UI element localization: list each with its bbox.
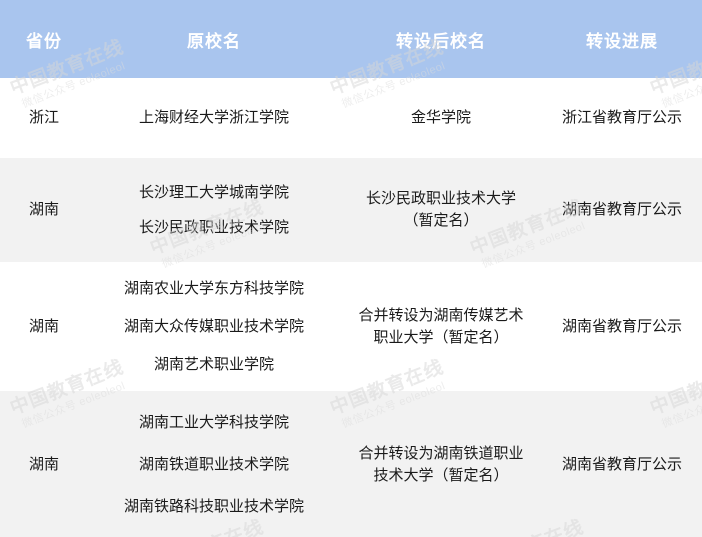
new-name-line: 技术大学（暂定名） (344, 465, 538, 487)
school-name-line: 长沙理工大学城南学院 (92, 182, 336, 204)
header-row: 省份 原校名 转设后校名 转设进展 (0, 0, 702, 78)
new-name-line: 职业大学（暂定名） (344, 327, 538, 349)
school-name-line: 湖南艺术职业学院 (92, 354, 336, 376)
column-header-province: 省份 (0, 0, 88, 78)
school-name-line: 湖南铁路科技职业技术学院 (92, 496, 336, 518)
column-header-original-school-name: 原校名 (88, 0, 340, 78)
cell-transition-progress: 湖南省教育厅公示 (542, 262, 702, 391)
cell-new-school-name: 合并转设为湖南传媒艺术 职业大学（暂定名） (340, 262, 542, 391)
cell-original-school-name: 上海财经大学浙江学院 (88, 78, 340, 158)
cell-transition-progress: 湖南省教育厅公示 (542, 391, 702, 537)
new-name-line: 长沙民政职业技术大学 (344, 188, 538, 210)
cell-province: 湖南 (0, 262, 88, 391)
cell-original-school-name: 长沙理工大学城南学院 长沙民政职业技术学院 (88, 158, 340, 262)
cell-province: 湖南 (0, 158, 88, 262)
cell-new-school-name: 长沙民政职业技术大学 （暂定名） (340, 158, 542, 262)
school-name-line: 湖南铁道职业技术学院 (92, 454, 336, 476)
cell-transition-progress: 浙江省教育厅公示 (542, 78, 702, 158)
school-name-line: 湖南工业大学科技学院 (92, 412, 336, 434)
column-header-new-school-name: 转设后校名 (340, 0, 542, 78)
cell-new-school-name: 合并转设为湖南铁道职业 技术大学（暂定名） (340, 391, 542, 537)
cell-original-school-name: 湖南农业大学东方科技学院 湖南大众传媒职业技术学院 湖南艺术职业学院 (88, 262, 340, 391)
column-header-transition-progress: 转设进展 (542, 0, 702, 78)
new-name-line: 合并转设为湖南传媒艺术 (344, 305, 538, 327)
new-name-line: （暂定名） (344, 210, 538, 232)
new-name-line: 金华学院 (344, 107, 538, 129)
school-transition-table: 省份 原校名 转设后校名 转设进展 浙江 上海财经大学浙江学院 金华学院 浙江省… (0, 0, 702, 537)
table-row: 浙江 上海财经大学浙江学院 金华学院 浙江省教育厅公示 (0, 78, 702, 158)
school-name-line: 长沙民政职业技术学院 (92, 217, 336, 239)
new-name-line: 合并转设为湖南铁道职业 (344, 443, 538, 465)
table-header: 省份 原校名 转设后校名 转设进展 (0, 0, 702, 78)
table-row: 湖南 长沙理工大学城南学院 长沙民政职业技术学院 长沙民政职业技术大学 （暂定名… (0, 158, 702, 262)
cell-transition-progress: 湖南省教育厅公示 (542, 158, 702, 262)
cell-new-school-name: 金华学院 (340, 78, 542, 158)
school-name-line: 上海财经大学浙江学院 (92, 107, 336, 129)
table-row: 湖南 湖南农业大学东方科技学院 湖南大众传媒职业技术学院 湖南艺术职业学院 合并… (0, 262, 702, 391)
cell-province: 湖南 (0, 391, 88, 537)
table-row: 湖南 湖南工业大学科技学院 湖南铁道职业技术学院 湖南铁路科技职业技术学院 合并… (0, 391, 702, 537)
school-name-line: 湖南大众传媒职业技术学院 (92, 316, 336, 338)
table-body: 浙江 上海财经大学浙江学院 金华学院 浙江省教育厅公示 湖南 长沙理工大学城南学… (0, 78, 702, 537)
transition-table-container: 省份 原校名 转设后校名 转设进展 浙江 上海财经大学浙江学院 金华学院 浙江省… (0, 0, 702, 537)
school-name-line: 湖南农业大学东方科技学院 (92, 278, 336, 300)
cell-province: 浙江 (0, 78, 88, 158)
cell-original-school-name: 湖南工业大学科技学院 湖南铁道职业技术学院 湖南铁路科技职业技术学院 (88, 391, 340, 537)
